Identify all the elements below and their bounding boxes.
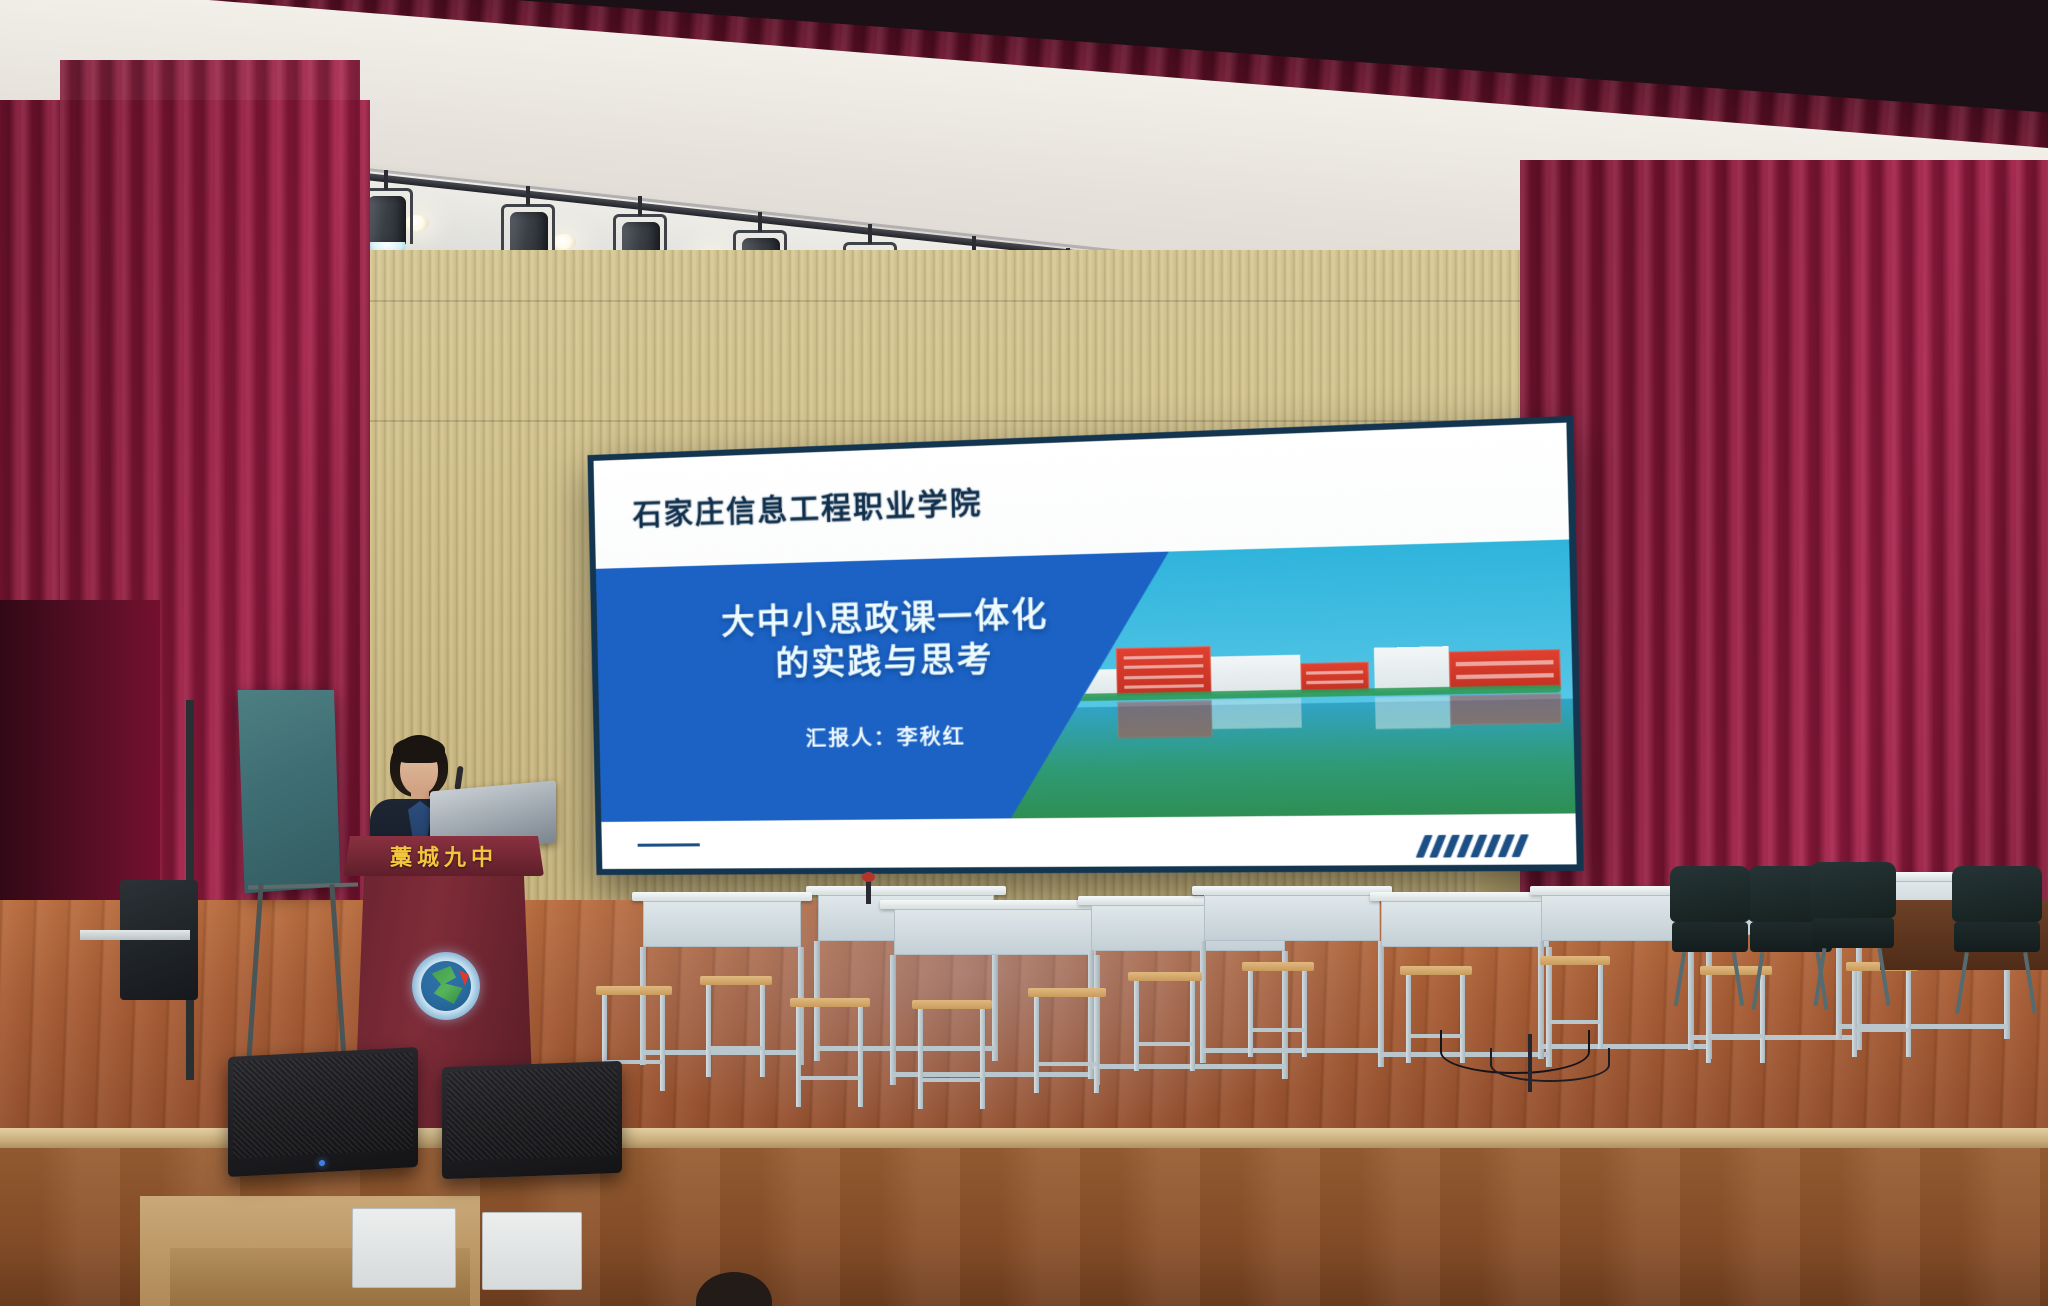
downlight xyxy=(552,234,576,251)
stage-spotlight xyxy=(364,186,408,260)
footer-stripes-decoration xyxy=(1415,835,1528,858)
stage-side-table xyxy=(80,930,190,940)
slide-footer xyxy=(601,814,1576,869)
campus-reflection xyxy=(1450,693,1562,725)
campus-building xyxy=(1449,649,1561,689)
chalkboard xyxy=(238,690,341,893)
auditorium-scene: 石家庄信息工程职业学院 xyxy=(0,0,2048,1306)
stage-wall-panel[interactable] xyxy=(482,1212,582,1290)
campus-photo xyxy=(1005,540,1575,819)
slide-title: 大中小思政课一体化 的实践与思考 xyxy=(642,590,1135,688)
stage-wall-panel[interactable] xyxy=(352,1208,456,1288)
stage-equipment-case xyxy=(120,880,198,1000)
wall-seam xyxy=(330,420,1560,422)
campus-reflection xyxy=(1375,695,1451,729)
stage-monitor-speaker xyxy=(442,1061,622,1179)
campus-reflection xyxy=(1211,698,1301,729)
slide-surface: 石家庄信息工程职业学院 xyxy=(594,423,1577,869)
podium-sign-text: 藁城九中 xyxy=(344,840,544,872)
slide-header-text: 石家庄信息工程职业学院 xyxy=(632,480,983,535)
floor-cable xyxy=(1490,1048,1610,1082)
led-screen[interactable]: 石家庄信息工程职业学院 xyxy=(587,416,1583,875)
stage-monitor-speaker xyxy=(228,1047,418,1177)
campus-building xyxy=(1210,655,1301,694)
campus-building xyxy=(1374,646,1450,691)
floor-mic-stand xyxy=(1528,1034,1532,1092)
desk-microphone-head xyxy=(862,872,875,882)
school-crest-icon xyxy=(412,952,480,1020)
footer-dash-accent xyxy=(638,844,700,847)
presenter-fringe xyxy=(393,737,445,763)
wall-seam xyxy=(330,300,1560,302)
slide-body: 大中小思政课一体化 的实践与思考 汇报人：李秋红 xyxy=(596,540,1576,822)
